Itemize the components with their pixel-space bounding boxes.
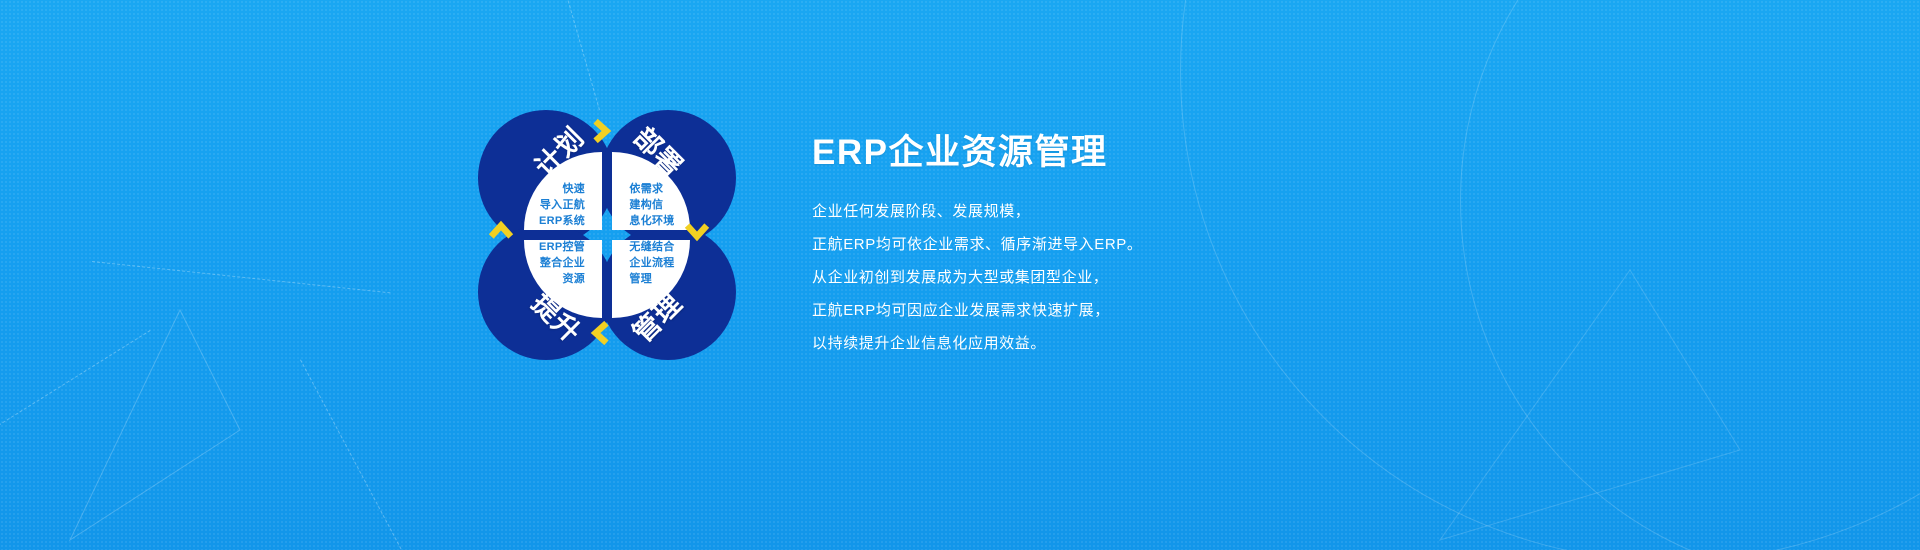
decorative-triangle-left xyxy=(60,300,320,550)
petal-improve[interactable]: ERP控管 整合企业 资源 xyxy=(524,240,602,318)
petal-text-plan: 快速 导入正航 ERP系统 xyxy=(539,182,587,230)
description-paragraph: 企业任何发展阶段、发展规模， 正航ERP均可依企业需求、循序渐进导入ERP。 从… xyxy=(812,204,1512,351)
petal-line: 快速 xyxy=(539,182,585,198)
paragraph-line: 从企业初创到发展成为大型或集团型企业， xyxy=(812,270,1512,285)
decorative-line-1 xyxy=(0,330,151,490)
erp-cycle-diagram: 计划 部署 提升 管理 快速 导入正航 ERP系统 依需求 建构信 xyxy=(478,110,736,360)
petal-deploy[interactable]: 依需求 建构信 息化环境 xyxy=(612,152,690,230)
chevron-left-icon xyxy=(588,320,614,346)
petal-text-manage: 无缝结合 企业流程 管理 xyxy=(627,240,674,288)
petal-text-improve: ERP控管 整合企业 资源 xyxy=(539,240,587,288)
petal-line: ERP控管 xyxy=(539,240,585,256)
paragraph-line: 正航ERP均可依企业需求、循序渐进导入ERP。 xyxy=(812,237,1512,252)
petal-line: 建构信 xyxy=(629,198,674,214)
chevron-right-icon xyxy=(588,118,614,144)
decorative-line-4 xyxy=(536,0,600,110)
content-block: ERP企业资源管理 企业任何发展阶段、发展规模， 正航ERP均可依企业需求、循序… xyxy=(812,132,1512,351)
chevron-down-icon xyxy=(684,218,710,244)
page-title: ERP企业资源管理 xyxy=(812,132,1512,174)
chevron-up-icon xyxy=(488,218,514,244)
decorative-line-3 xyxy=(92,261,390,293)
petal-line: 资源 xyxy=(539,272,585,288)
petal-line: 企业流程 xyxy=(629,256,674,272)
petal-line: ERP系统 xyxy=(539,214,585,230)
paragraph-line: 以持续提升企业信息化应用效益。 xyxy=(812,336,1512,351)
petal-line: 依需求 xyxy=(629,182,674,198)
decorative-line-2 xyxy=(300,360,456,550)
petal-plan[interactable]: 快速 导入正航 ERP系统 xyxy=(524,152,602,230)
petal-line: 息化环境 xyxy=(629,214,674,230)
petal-line: 整合企业 xyxy=(539,256,585,272)
paragraph-line: 企业任何发展阶段、发展规模， xyxy=(812,204,1512,219)
petal-manage[interactable]: 无缝结合 企业流程 管理 xyxy=(612,240,690,318)
paragraph-line: 正航ERP均可因应企业发展需求快速扩展， xyxy=(812,303,1512,318)
decorative-arc-far-right xyxy=(1460,0,1920,550)
petal-group: 快速 导入正航 ERP系统 依需求 建构信 息化环境 ERP控管 整合企业 资源 xyxy=(524,152,690,318)
petal-line: 管理 xyxy=(629,272,674,288)
erp-banner: 计划 部署 提升 管理 快速 导入正航 ERP系统 依需求 建构信 xyxy=(0,0,1920,550)
petal-line: 无缝结合 xyxy=(629,240,674,256)
petal-line: 导入正航 xyxy=(539,198,585,214)
petal-text-deploy: 依需求 建构信 息化环境 xyxy=(627,182,674,230)
